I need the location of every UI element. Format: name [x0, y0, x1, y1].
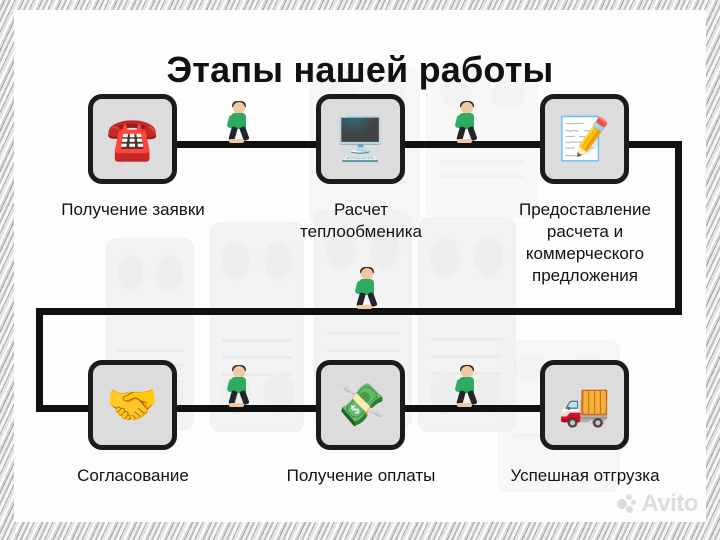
- walking-person-icon: [454, 366, 480, 406]
- page-title: Этапы нашей работы: [14, 48, 706, 92]
- background-product-photo: [210, 222, 304, 432]
- walking-person-icon: [226, 366, 252, 406]
- slide-stage: Этапы нашей работы ☎️ Получение заявки 🖥…: [0, 0, 720, 540]
- avito-watermark: Avito: [617, 490, 698, 518]
- money-with-wings-icon: 💸: [334, 384, 386, 426]
- connector-step4-step5: [174, 405, 329, 412]
- step-box-4[interactable]: 🤝: [88, 360, 177, 450]
- connector-step3-right: [626, 141, 682, 148]
- step-box-5[interactable]: 💸: [316, 360, 405, 450]
- walking-person-icon: [454, 102, 480, 142]
- step-caption-2: Расчет теплообменика: [270, 199, 452, 243]
- connector-step5-step6: [402, 405, 554, 412]
- step-box-2[interactable]: 🖥️: [316, 94, 405, 184]
- handshake-icon: 🤝: [106, 384, 158, 426]
- connector-step2-step3: [402, 141, 554, 148]
- step-caption-1: Получение заявки: [38, 199, 228, 221]
- connector-step1-step2: [174, 141, 329, 148]
- step-box-3[interactable]: 📝: [540, 94, 629, 184]
- step-caption-5: Получение оплаты: [266, 465, 456, 487]
- step-caption-6: Успешная отгрузка: [486, 465, 684, 487]
- avito-wordmark: Avito: [641, 490, 698, 518]
- avito-dots-icon: [617, 494, 637, 514]
- step-caption-4: Согласование: [38, 465, 228, 487]
- delivery-truck-icon: 🚚: [558, 384, 610, 426]
- connector-left-vertical: [36, 308, 43, 412]
- walking-person-icon: [354, 268, 380, 308]
- desktop-computer-icon: 🖥️: [334, 118, 386, 160]
- walking-person-icon: [226, 102, 252, 142]
- telephone-icon: ☎️: [106, 118, 158, 160]
- white-card: Этапы нашей работы ☎️ Получение заявки 🖥…: [14, 10, 706, 522]
- step-box-1[interactable]: ☎️: [88, 94, 177, 184]
- step-caption-3: Предоставление расчета и коммерческого п…: [490, 199, 680, 287]
- step-box-6[interactable]: 🚚: [540, 360, 629, 450]
- memo-pencil-icon: 📝: [558, 118, 610, 160]
- connector-middle-horizontal: [36, 308, 682, 315]
